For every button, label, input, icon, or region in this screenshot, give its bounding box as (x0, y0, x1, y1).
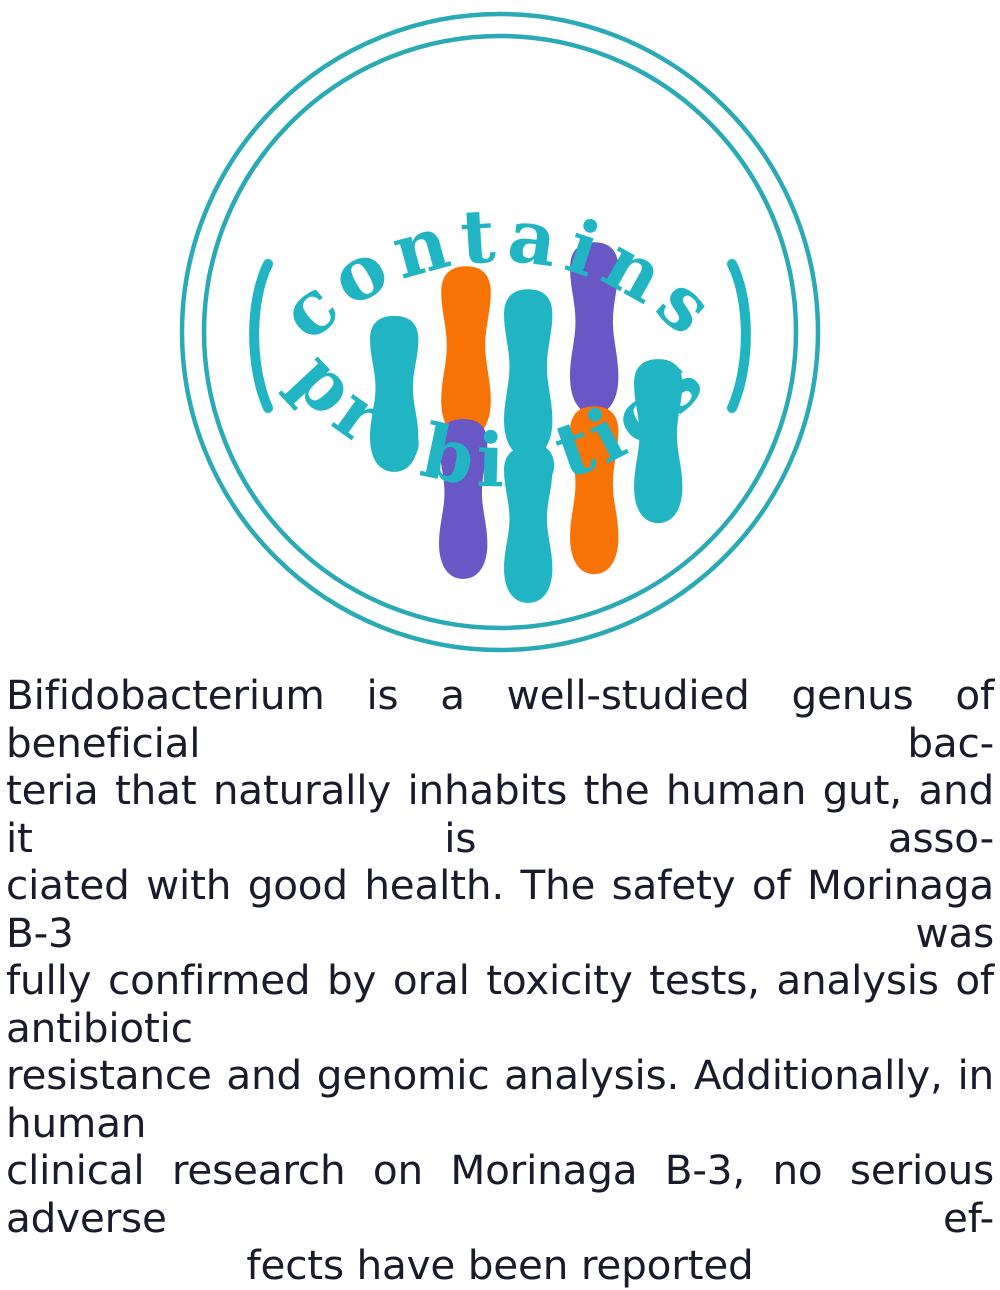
description-line-4: fully confirmed by oral toxicity tests, … (6, 957, 994, 1052)
description-line-2: teria that naturally inhabits the human … (6, 767, 994, 862)
badge-graphic: contains probiotics (0, 0, 1000, 665)
page-root: contains probiotics Bifidobacterium is a… (0, 0, 1000, 1000)
description-line-5: resistance and genomic analysis. Additio… (6, 1052, 994, 1147)
badge-background (0, 0, 1000, 665)
description-paragraph: Bifidobacterium is a well-studied genus … (0, 672, 1000, 1000)
contains-probiotics-badge: contains probiotics (0, 0, 1000, 665)
description-line-1: Bifidobacterium is a well-studied genus … (6, 672, 994, 767)
description-line-3: ciated with good health. The safety of M… (6, 862, 994, 957)
description-line-6: clinical research on Morinaga B-3, no se… (6, 1147, 994, 1242)
description-line-7: fects have been reported (6, 1242, 994, 1290)
